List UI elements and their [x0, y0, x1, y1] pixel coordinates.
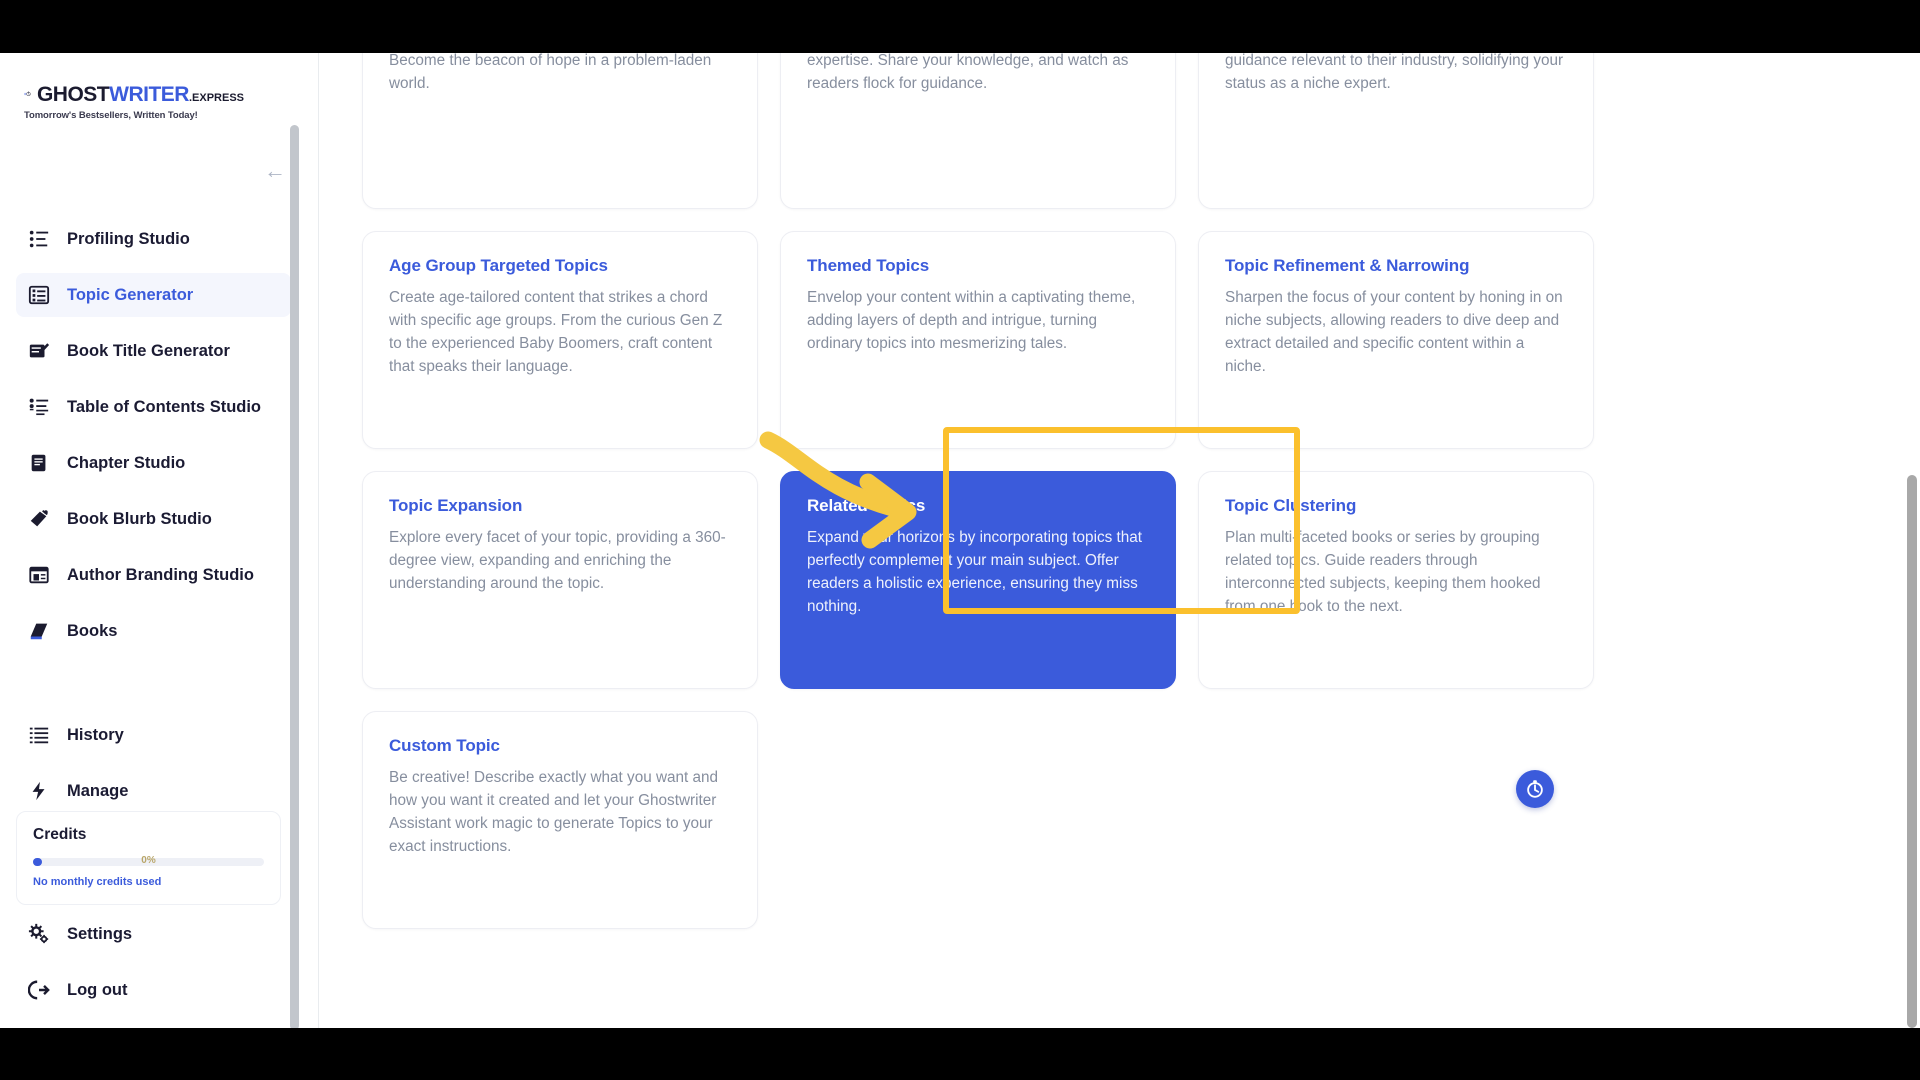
sidebar-item-label: Manage — [67, 782, 128, 801]
arrow-left-icon[interactable]: ← — [262, 158, 288, 184]
credits-percent-label: 0% — [33, 855, 264, 866]
topic-card-topic-expansion[interactable]: Topic Expansion Explore every facet of y… — [362, 471, 758, 689]
sidebar-item-table-of-contents-studio[interactable]: Table of Contents Studio — [16, 385, 291, 429]
card-title: Age Group Targeted Topics — [389, 256, 731, 276]
card-title: Themed Topics — [807, 256, 1149, 276]
sidebar-item-manage[interactable]: Manage — [16, 769, 291, 813]
books-icon — [28, 620, 50, 642]
credits-progress-bar: 0% — [33, 858, 264, 866]
topic-card-custom-topic[interactable]: Custom Topic Be creative! Describe exact… — [362, 711, 758, 929]
card-description: Envelop your content within a captivatin… — [807, 287, 1149, 356]
sidebar-item-label: Books — [67, 622, 117, 641]
card-title: Related Topics — [807, 496, 1149, 516]
sidebar: GHOSTWRITER.EXPRESS Tomorrow's Bestselle… — [0, 53, 319, 1028]
sidebar-item-chapter-studio[interactable]: Chapter Studio — [16, 441, 291, 485]
author-branding-icon — [28, 564, 50, 586]
sidebar-item-label: Book Blurb Studio — [67, 510, 212, 529]
topic-card-topic-refinement-narrowing[interactable]: Topic Refinement & Narrowing Sharpen the… — [1198, 231, 1594, 449]
topic-card[interactable]: actionable solutions to their pressing c… — [362, 53, 758, 209]
sidebar-item-label: Settings — [67, 925, 132, 944]
logo-tagline: Tomorrow's Bestsellers, Written Today! — [24, 110, 244, 121]
sidebar-footer-nav: Settings Log out — [0, 908, 319, 1024]
card-description: professionals by offering insights, tips… — [1225, 53, 1567, 96]
sidebar-item-books[interactable]: Books — [16, 609, 291, 653]
sidebar-item-book-title-generator[interactable]: Book Title Generator — [16, 329, 291, 373]
topic-card-grid: actionable solutions to their pressing c… — [362, 53, 1612, 929]
credits-title: Credits — [33, 826, 264, 844]
card-title: Topic Refinement & Narrowing — [1225, 256, 1567, 276]
logout-icon — [28, 979, 50, 1001]
topic-list-icon — [28, 284, 50, 306]
card-description: Be creative! Describe exactly what you w… — [389, 767, 731, 859]
sidebar-item-label: Topic Generator — [67, 286, 193, 305]
sidebar-item-settings[interactable]: Settings — [16, 912, 291, 956]
card-title: Topic Clustering — [1225, 496, 1567, 516]
credits-panel: Credits 0% No monthly credits used — [16, 811, 281, 905]
sidebar-item-log-out[interactable]: Log out — [16, 968, 291, 1012]
history-list-icon — [28, 724, 50, 746]
book-title-icon — [28, 340, 50, 362]
sidebar-scrollbar-thumb[interactable] — [290, 125, 299, 1028]
blurb-megaphone-icon — [28, 508, 50, 530]
sidebar-item-author-branding-studio[interactable]: Author Branding Studio — [16, 553, 291, 597]
topic-card-related-topics[interactable]: Related Topics Expand your horizons by i… — [780, 471, 1176, 689]
card-title: Custom Topic — [389, 736, 731, 756]
topic-card-themed-topics[interactable]: Themed Topics Envelop your content withi… — [780, 231, 1176, 449]
stopwatch-icon — [1524, 778, 1546, 800]
sidebar-item-label: Profiling Studio — [67, 230, 190, 249]
sidebar-item-history[interactable]: History — [16, 713, 291, 757]
logo-text-part2: WRITER — [109, 83, 189, 106]
card-description: actionable solutions to their pressing c… — [389, 53, 731, 96]
toc-list-icon — [28, 396, 50, 418]
credits-note: No monthly credits used — [33, 876, 264, 888]
sidebar-item-label: Table of Contents Studio — [67, 398, 261, 417]
sidebar-item-label: Author Branding Studio — [67, 566, 254, 585]
lightning-bolt-icon — [28, 780, 50, 802]
card-description: Expand your horizons by incorporating to… — [807, 527, 1149, 619]
sidebar-item-label: Log out — [67, 981, 127, 1000]
sidebar-item-book-blurb-studio[interactable]: Book Blurb Studio — [16, 497, 291, 541]
stopwatch-logo-icon — [24, 81, 31, 107]
chapter-book-icon — [28, 452, 50, 474]
main-scrollbar-thumb[interactable] — [1907, 475, 1917, 1028]
card-description: producing content rooted in your unique … — [807, 53, 1149, 96]
sidebar-nav: Profiling Studio Topic Generator Book Ti… — [0, 213, 319, 825]
card-description: Create age-tailored content that strikes… — [389, 287, 731, 379]
card-description: Explore every facet of your topic, provi… — [389, 527, 731, 596]
topic-card[interactable]: professionals by offering insights, tips… — [1198, 53, 1594, 209]
card-description: Plan multi-faceted books or series by gr… — [1225, 527, 1567, 619]
sidebar-scrollbar[interactable] — [290, 125, 299, 1028]
card-title: Topic Expansion — [389, 496, 731, 516]
sidebar-item-profiling-studio[interactable]: Profiling Studio — [16, 217, 291, 261]
topic-card[interactable]: producing content rooted in your unique … — [780, 53, 1176, 209]
topic-card-age-group-targeted-topics[interactable]: Age Group Targeted Topics Create age-tai… — [362, 231, 758, 449]
main-scrollbar[interactable] — [1907, 53, 1917, 1028]
sidebar-item-topic-generator[interactable]: Topic Generator — [16, 273, 291, 317]
nav-spacer — [0, 665, 319, 709]
gears-icon — [28, 923, 50, 945]
sidebar-item-label: Chapter Studio — [67, 454, 185, 473]
logo-text-part1: GHOST — [37, 83, 109, 106]
app-viewport: GHOSTWRITER.EXPRESS Tomorrow's Bestselle… — [0, 53, 1920, 1028]
topic-card-topic-clustering[interactable]: Topic Clustering Plan multi-faceted book… — [1198, 471, 1594, 689]
sidebar-item-label: Book Title Generator — [67, 342, 230, 361]
support-fab-button[interactable] — [1516, 770, 1554, 808]
sidebar-item-label: History — [67, 726, 124, 745]
logo-text-ext: .EXPRESS — [189, 92, 244, 104]
main-content: actionable solutions to their pressing c… — [320, 53, 1920, 1028]
app-logo[interactable]: GHOSTWRITER.EXPRESS Tomorrow's Bestselle… — [24, 81, 244, 121]
profiling-list-icon — [28, 228, 50, 250]
card-description: Sharpen the focus of your content by hon… — [1225, 287, 1567, 379]
